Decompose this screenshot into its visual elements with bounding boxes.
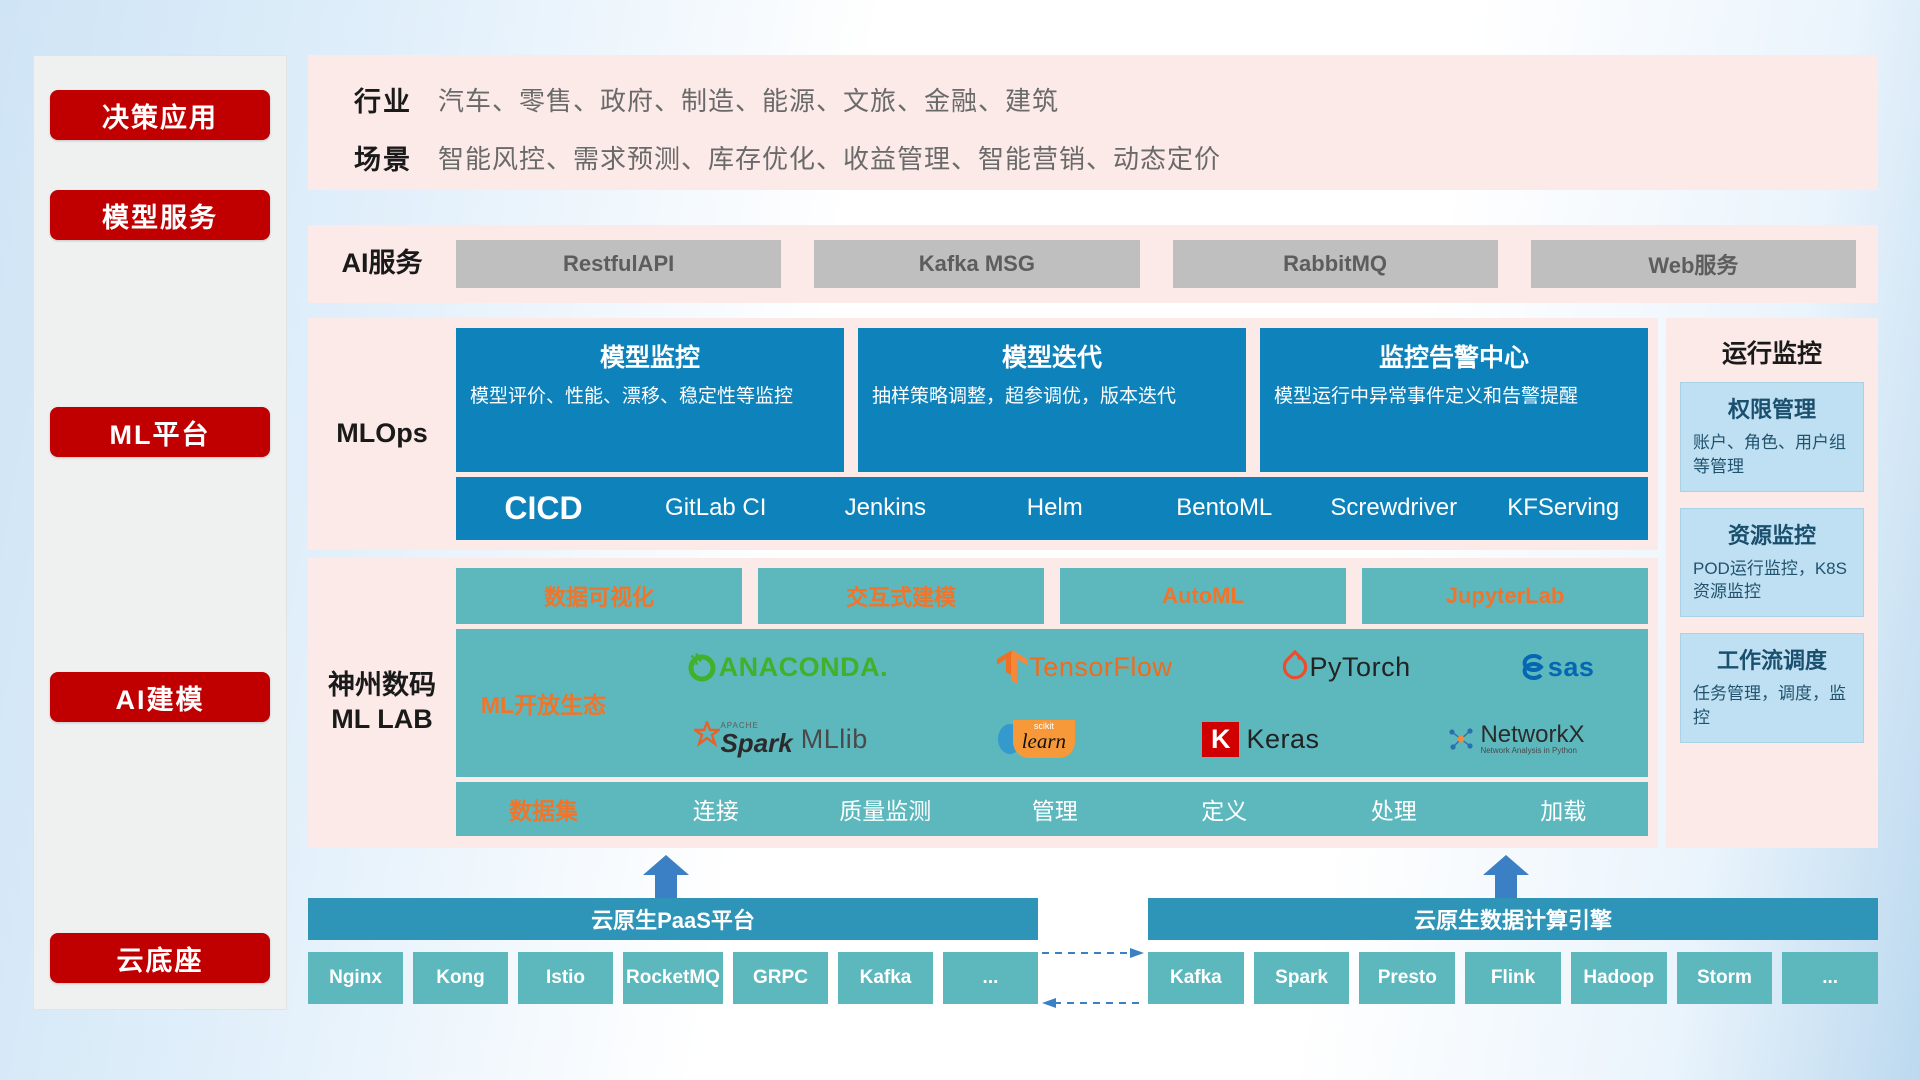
tensorflow-logo-text: TensorFlow (1029, 652, 1172, 683)
rail-tag-ml-platform[interactable]: ML平台 (50, 407, 270, 457)
cicd-item-bentoml[interactable]: BentoML (1140, 495, 1310, 522)
modeling-tool-data-visualization[interactable]: 数据可视化 (456, 568, 742, 624)
mlops-band: MLOps 模型监控 模型评价、性能、漂移、稳定性等监控 模型迭代 抽样策略调整… (308, 318, 1658, 550)
anaconda-logo: ANACONDA. (685, 633, 889, 701)
networkx-graph-icon (1446, 724, 1476, 754)
sas-logo-text: sas (1548, 652, 1595, 683)
monitor-card-desc: POD运行监控，K8S资源监控 (1693, 557, 1851, 605)
pytorch-logo: PyTorch (1280, 633, 1411, 701)
ai-service-item-kafka-msg[interactable]: Kafka MSG (814, 240, 1139, 288)
scenario-value: 智能风控、需求预测、库存优化、收益管理、智能营销、动态定价 (438, 139, 1221, 176)
sas-mark-icon (1518, 652, 1548, 682)
industry-row: 行业 汽车、零售、政府、制造、能源、文旅、金融、建筑 (328, 73, 1059, 125)
cicd-title: CICD (456, 490, 631, 527)
mlops-card-desc: 抽样策略调整，超参调优，版本迭代 (872, 384, 1232, 411)
pytorch-logo-text: PyTorch (1310, 652, 1411, 683)
tensorflow-logo: TensorFlow (995, 633, 1172, 701)
ml-lab-label: 神州数码 ML LAB (308, 558, 456, 848)
industry-label: 行业 (328, 80, 438, 119)
paas-chip-more[interactable]: ... (943, 952, 1038, 1004)
cicd-item-gitlab-ci[interactable]: GitLab CI (631, 495, 801, 522)
sas-logo: sas (1518, 633, 1595, 701)
paas-up-arrow-icon (643, 855, 689, 899)
modeling-tool-automl[interactable]: AutoML (1060, 568, 1346, 624)
ecosystem-logo-row-1: ANACONDA. TensorFlow (631, 633, 1648, 701)
dataset-item-load[interactable]: 加载 (1479, 792, 1649, 826)
cicd-row: CICD GitLab CI Jenkins Helm BentoML Scre… (456, 477, 1648, 540)
dataset-item-define[interactable]: 定义 (1140, 792, 1310, 826)
mlops-content: 模型监控 模型评价、性能、漂移、稳定性等监控 模型迭代 抽样策略调整，超参调优，… (456, 318, 1658, 550)
dataset-row: 数据集 连接 质量监测 管理 定义 处理 加载 (456, 782, 1648, 836)
keras-logo: K Keras (1202, 705, 1320, 773)
data-chip-spark[interactable]: Spark (1254, 952, 1350, 1004)
rail-tag-decision[interactable]: 决策应用 (50, 90, 270, 140)
networkx-logo-text: NetworkX (1480, 722, 1584, 747)
networkx-logo-subtext: Network Analysis in Python (1480, 747, 1584, 755)
data-engine-up-arrow-icon (1483, 855, 1529, 899)
anaconda-logo-text: ANACONDA. (719, 652, 889, 683)
data-chip-storm[interactable]: Storm (1677, 952, 1773, 1004)
cicd-item-jenkins[interactable]: Jenkins (801, 495, 971, 522)
monitor-card-resource[interactable]: 资源监控 POD运行监控，K8S资源监控 (1680, 508, 1864, 618)
monitor-card-title: 工作流调度 (1693, 643, 1851, 675)
monitor-card-workflow[interactable]: 工作流调度 任务管理，调度，监控 (1680, 633, 1864, 743)
keras-logo-text: Keras (1246, 724, 1319, 755)
cicd-item-kfserving[interactable]: KFServing (1479, 495, 1649, 522)
dataset-item-connect[interactable]: 连接 (631, 792, 801, 826)
runtime-monitor-panel: 运行监控 权限管理 账户、角色、用户组等管理 资源监控 POD运行监控，K8S资… (1666, 318, 1878, 848)
tensorflow-mark-icon (995, 648, 1029, 686)
runtime-monitor-title: 运行监控 (1666, 318, 1878, 382)
architecture-diagram: 决策应用 模型服务 ML平台 AI建模 云底座 行业 汽车、零售、政府、制造、能… (0, 0, 1920, 1080)
mlops-card-model-monitoring[interactable]: 模型监控 模型评价、性能、漂移、稳定性等监控 (456, 328, 844, 472)
ai-service-label: AI服务 (308, 225, 456, 303)
modeling-tool-jupyterlab[interactable]: JupyterLab (1362, 568, 1648, 624)
data-to-paas-arrow-icon (1042, 995, 1144, 1016)
monitor-card-permission[interactable]: 权限管理 账户、角色、用户组等管理 (1680, 382, 1864, 492)
decision-application-band: 行业 汽车、零售、政府、制造、能源、文旅、金融、建筑 场景 智能风控、需求预测、… (308, 55, 1878, 190)
mlops-card-model-iteration[interactable]: 模型迭代 抽样策略调整，超参调优，版本迭代 (858, 328, 1246, 472)
rail-tag-cloud-base[interactable]: 云底座 (50, 933, 270, 983)
ai-service-band: AI服务 RestfulAPI Kafka MSG RabbitMQ Web服务 (308, 225, 1878, 303)
industry-value: 汽车、零售、政府、制造、能源、文旅、金融、建筑 (438, 81, 1059, 118)
rail-tag-model-service[interactable]: 模型服务 (50, 190, 270, 240)
mlops-card-desc: 模型运行中异常事件定义和告警提醒 (1274, 384, 1634, 411)
data-chip-presto[interactable]: Presto (1359, 952, 1455, 1004)
paas-chip-grpc[interactable]: GRPC (733, 952, 828, 1004)
data-engine-chip-list: Kafka Spark Presto Flink Hadoop Storm ..… (1148, 952, 1878, 1004)
mlops-card-desc: 模型评价、性能、漂移、稳定性等监控 (470, 384, 830, 411)
cicd-item-screwdriver[interactable]: Screwdriver (1309, 495, 1479, 522)
data-chip-kafka[interactable]: Kafka (1148, 952, 1244, 1004)
modeling-tool-interactive-modeling[interactable]: 交互式建模 (758, 568, 1044, 624)
ai-service-item-web[interactable]: Web服务 (1531, 240, 1856, 288)
mlops-card-title: 模型迭代 (872, 338, 1232, 374)
dataset-label: 数据集 (456, 792, 631, 826)
ecosystem-logo-row-2: APACHE Spark MLlib scikit learn (631, 705, 1648, 773)
mlops-card-title: 模型监控 (470, 338, 830, 374)
scenario-row: 场景 智能风控、需求预测、库存优化、收益管理、智能营销、动态定价 (328, 131, 1221, 183)
modeling-tool-list: 数据可视化 交互式建模 AutoML JupyterLab (456, 568, 1648, 624)
ai-modeling-band: 神州数码 ML LAB 数据可视化 交互式建模 AutoML JupyterLa… (308, 558, 1658, 848)
ai-service-item-restfulapi[interactable]: RestfulAPI (456, 240, 781, 288)
data-chip-flink[interactable]: Flink (1465, 952, 1561, 1004)
data-chip-more[interactable]: ... (1782, 952, 1878, 1004)
paas-chip-nginx[interactable]: Nginx (308, 952, 403, 1004)
ai-service-list: RestfulAPI Kafka MSG RabbitMQ Web服务 (456, 240, 1878, 288)
paas-chip-list: Nginx Kong Istio RocketMQ GRPC Kafka ... (308, 952, 1038, 1004)
spark-logo-text: Spark (720, 730, 792, 756)
pytorch-mark-icon (1280, 650, 1310, 684)
keras-mark-icon: K (1202, 722, 1240, 757)
ai-modeling-content: 数据可视化 交互式建模 AutoML JupyterLab ML开放生态 ANA… (456, 558, 1658, 848)
mlops-card-title: 监控告警中心 (1274, 338, 1634, 374)
monitor-card-desc: 账户、角色、用户组等管理 (1693, 431, 1851, 479)
networkx-logo: NetworkX Network Analysis in Python (1446, 705, 1584, 773)
anaconda-mark-icon (685, 650, 719, 684)
ecosystem-logo-grid: ANACONDA. TensorFlow (631, 629, 1648, 777)
scikit-learn-logo: scikit learn (995, 705, 1075, 773)
spark-mllib-logo: APACHE Spark MLlib (694, 705, 867, 773)
ml-open-ecosystem-label: ML开放生态 (456, 686, 631, 720)
dataset-item-list: 连接 质量监测 管理 定义 处理 加载 (631, 792, 1648, 826)
ml-lab-label-line2: ML LAB (331, 704, 433, 734)
cicd-item-list: GitLab CI Jenkins Helm BentoML Screwdriv… (631, 495, 1648, 522)
paas-chip-kafka[interactable]: Kafka (838, 952, 933, 1004)
data-chip-hadoop[interactable]: Hadoop (1571, 952, 1667, 1004)
monitor-card-title: 权限管理 (1693, 392, 1851, 424)
paas-chip-kong[interactable]: Kong (413, 952, 508, 1004)
ml-lab-label-line1: 神州数码 (328, 670, 436, 700)
dataset-item-quality[interactable]: 质量监测 (801, 792, 971, 826)
monitor-card-title: 资源监控 (1693, 518, 1851, 550)
scikit-learn-logo-text: learn (1022, 731, 1066, 752)
rail-tag-ai-modeling[interactable]: AI建模 (50, 672, 270, 722)
ml-open-ecosystem-row: ML开放生态 ANACONDA. (456, 629, 1648, 777)
dataset-item-manage[interactable]: 管理 (970, 792, 1140, 826)
data-engine-bar[interactable]: 云原生数据计算引擎 (1148, 898, 1878, 940)
mlops-card-list: 模型监控 模型评价、性能、漂移、稳定性等监控 模型迭代 抽样策略调整，超参调优，… (456, 328, 1648, 472)
spark-star-icon (694, 721, 720, 747)
paas-chip-rocketmq[interactable]: RocketMQ (623, 952, 723, 1004)
cicd-item-helm[interactable]: Helm (970, 495, 1140, 522)
mlops-label: MLOps (308, 318, 456, 550)
dataset-item-process[interactable]: 处理 (1309, 792, 1479, 826)
ai-service-item-rabbitmq[interactable]: RabbitMQ (1173, 240, 1498, 288)
paas-chip-istio[interactable]: Istio (518, 952, 613, 1004)
paas-platform-bar[interactable]: 云原生PaaS平台 (308, 898, 1038, 940)
paas-to-data-arrow-icon (1042, 945, 1144, 966)
scenario-label: 场景 (328, 138, 438, 177)
monitor-card-desc: 任务管理，调度，监控 (1693, 682, 1851, 730)
mlops-card-alert-center[interactable]: 监控告警中心 模型运行中异常事件定义和告警提醒 (1260, 328, 1648, 472)
mllib-logo-text: MLlib (801, 724, 868, 755)
